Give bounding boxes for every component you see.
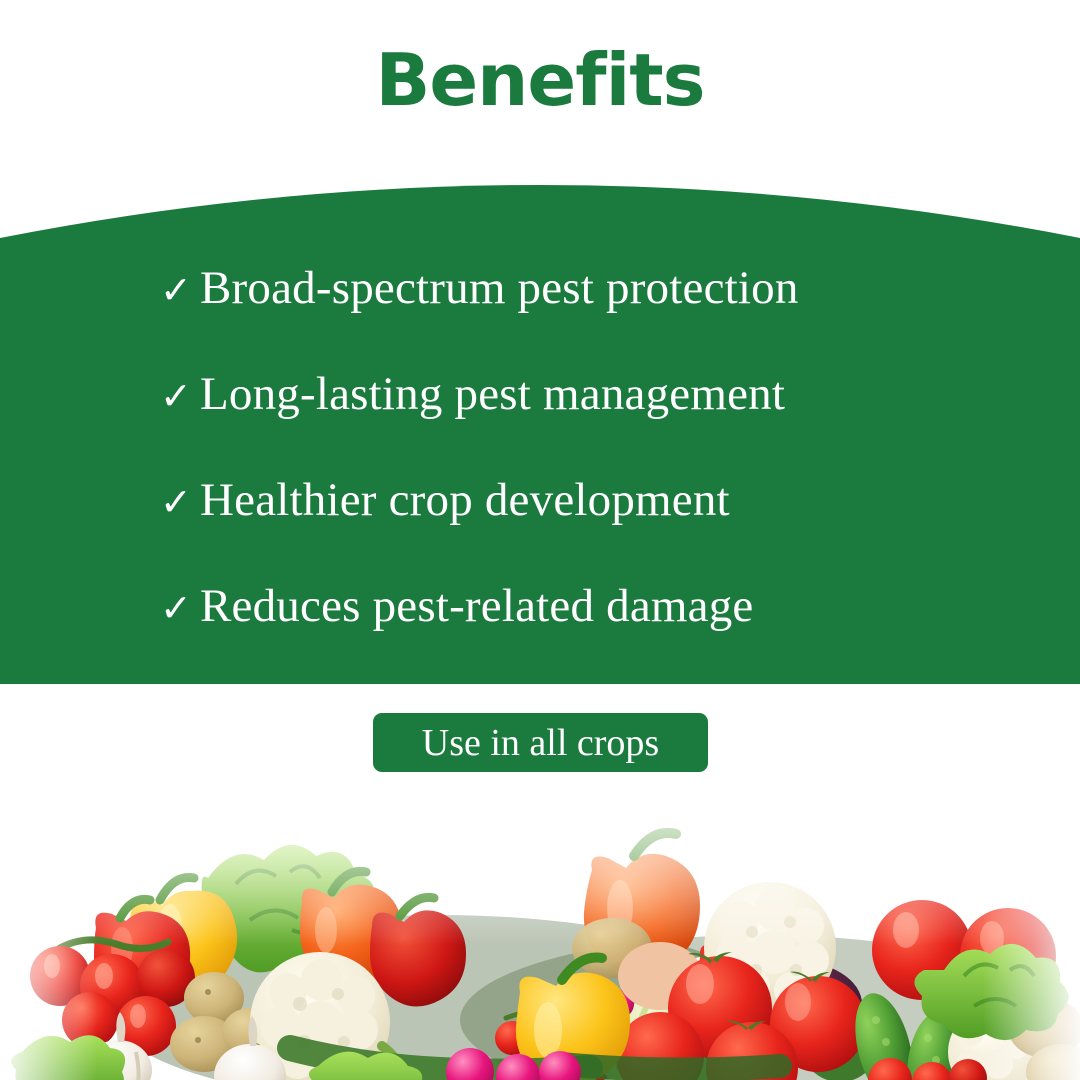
benefit-label: Healthier crop development — [200, 472, 730, 528]
benefit-item: ✓ Healthier crop development — [160, 472, 730, 528]
benefit-label: Broad-spectrum pest protection — [200, 260, 799, 316]
badge-label: Use in all crops — [422, 724, 659, 762]
check-icon: ✓ — [160, 368, 200, 424]
benefits-panel: ✓ Broad-spectrum pest protection ✓ Long-… — [0, 156, 1080, 684]
page-title: Benefits — [375, 44, 704, 116]
title-bar: Benefits — [0, 0, 1080, 160]
benefit-label: Reduces pest-related damage — [200, 578, 753, 634]
benefit-item: ✓ Broad-spectrum pest protection — [160, 260, 799, 316]
benefit-item: ✓ Long-lasting pest management — [160, 366, 785, 422]
benefit-label: Long-lasting pest management — [200, 366, 785, 422]
check-icon: ✓ — [160, 474, 200, 530]
check-icon: ✓ — [160, 580, 200, 636]
use-in-all-crops-badge: Use in all crops — [373, 713, 708, 772]
assorted-vegetables-photo — [0, 780, 1080, 1080]
benefit-list: ✓ Broad-spectrum pest protection ✓ Long-… — [0, 156, 1080, 684]
check-icon: ✓ — [160, 262, 200, 318]
benefit-item: ✓ Reduces pest-related damage — [160, 578, 753, 634]
benefits-poster: Benefits ✓ Broad-spectrum pest protectio… — [0, 0, 1080, 1080]
vegetables-illustration — [0, 780, 1080, 1080]
